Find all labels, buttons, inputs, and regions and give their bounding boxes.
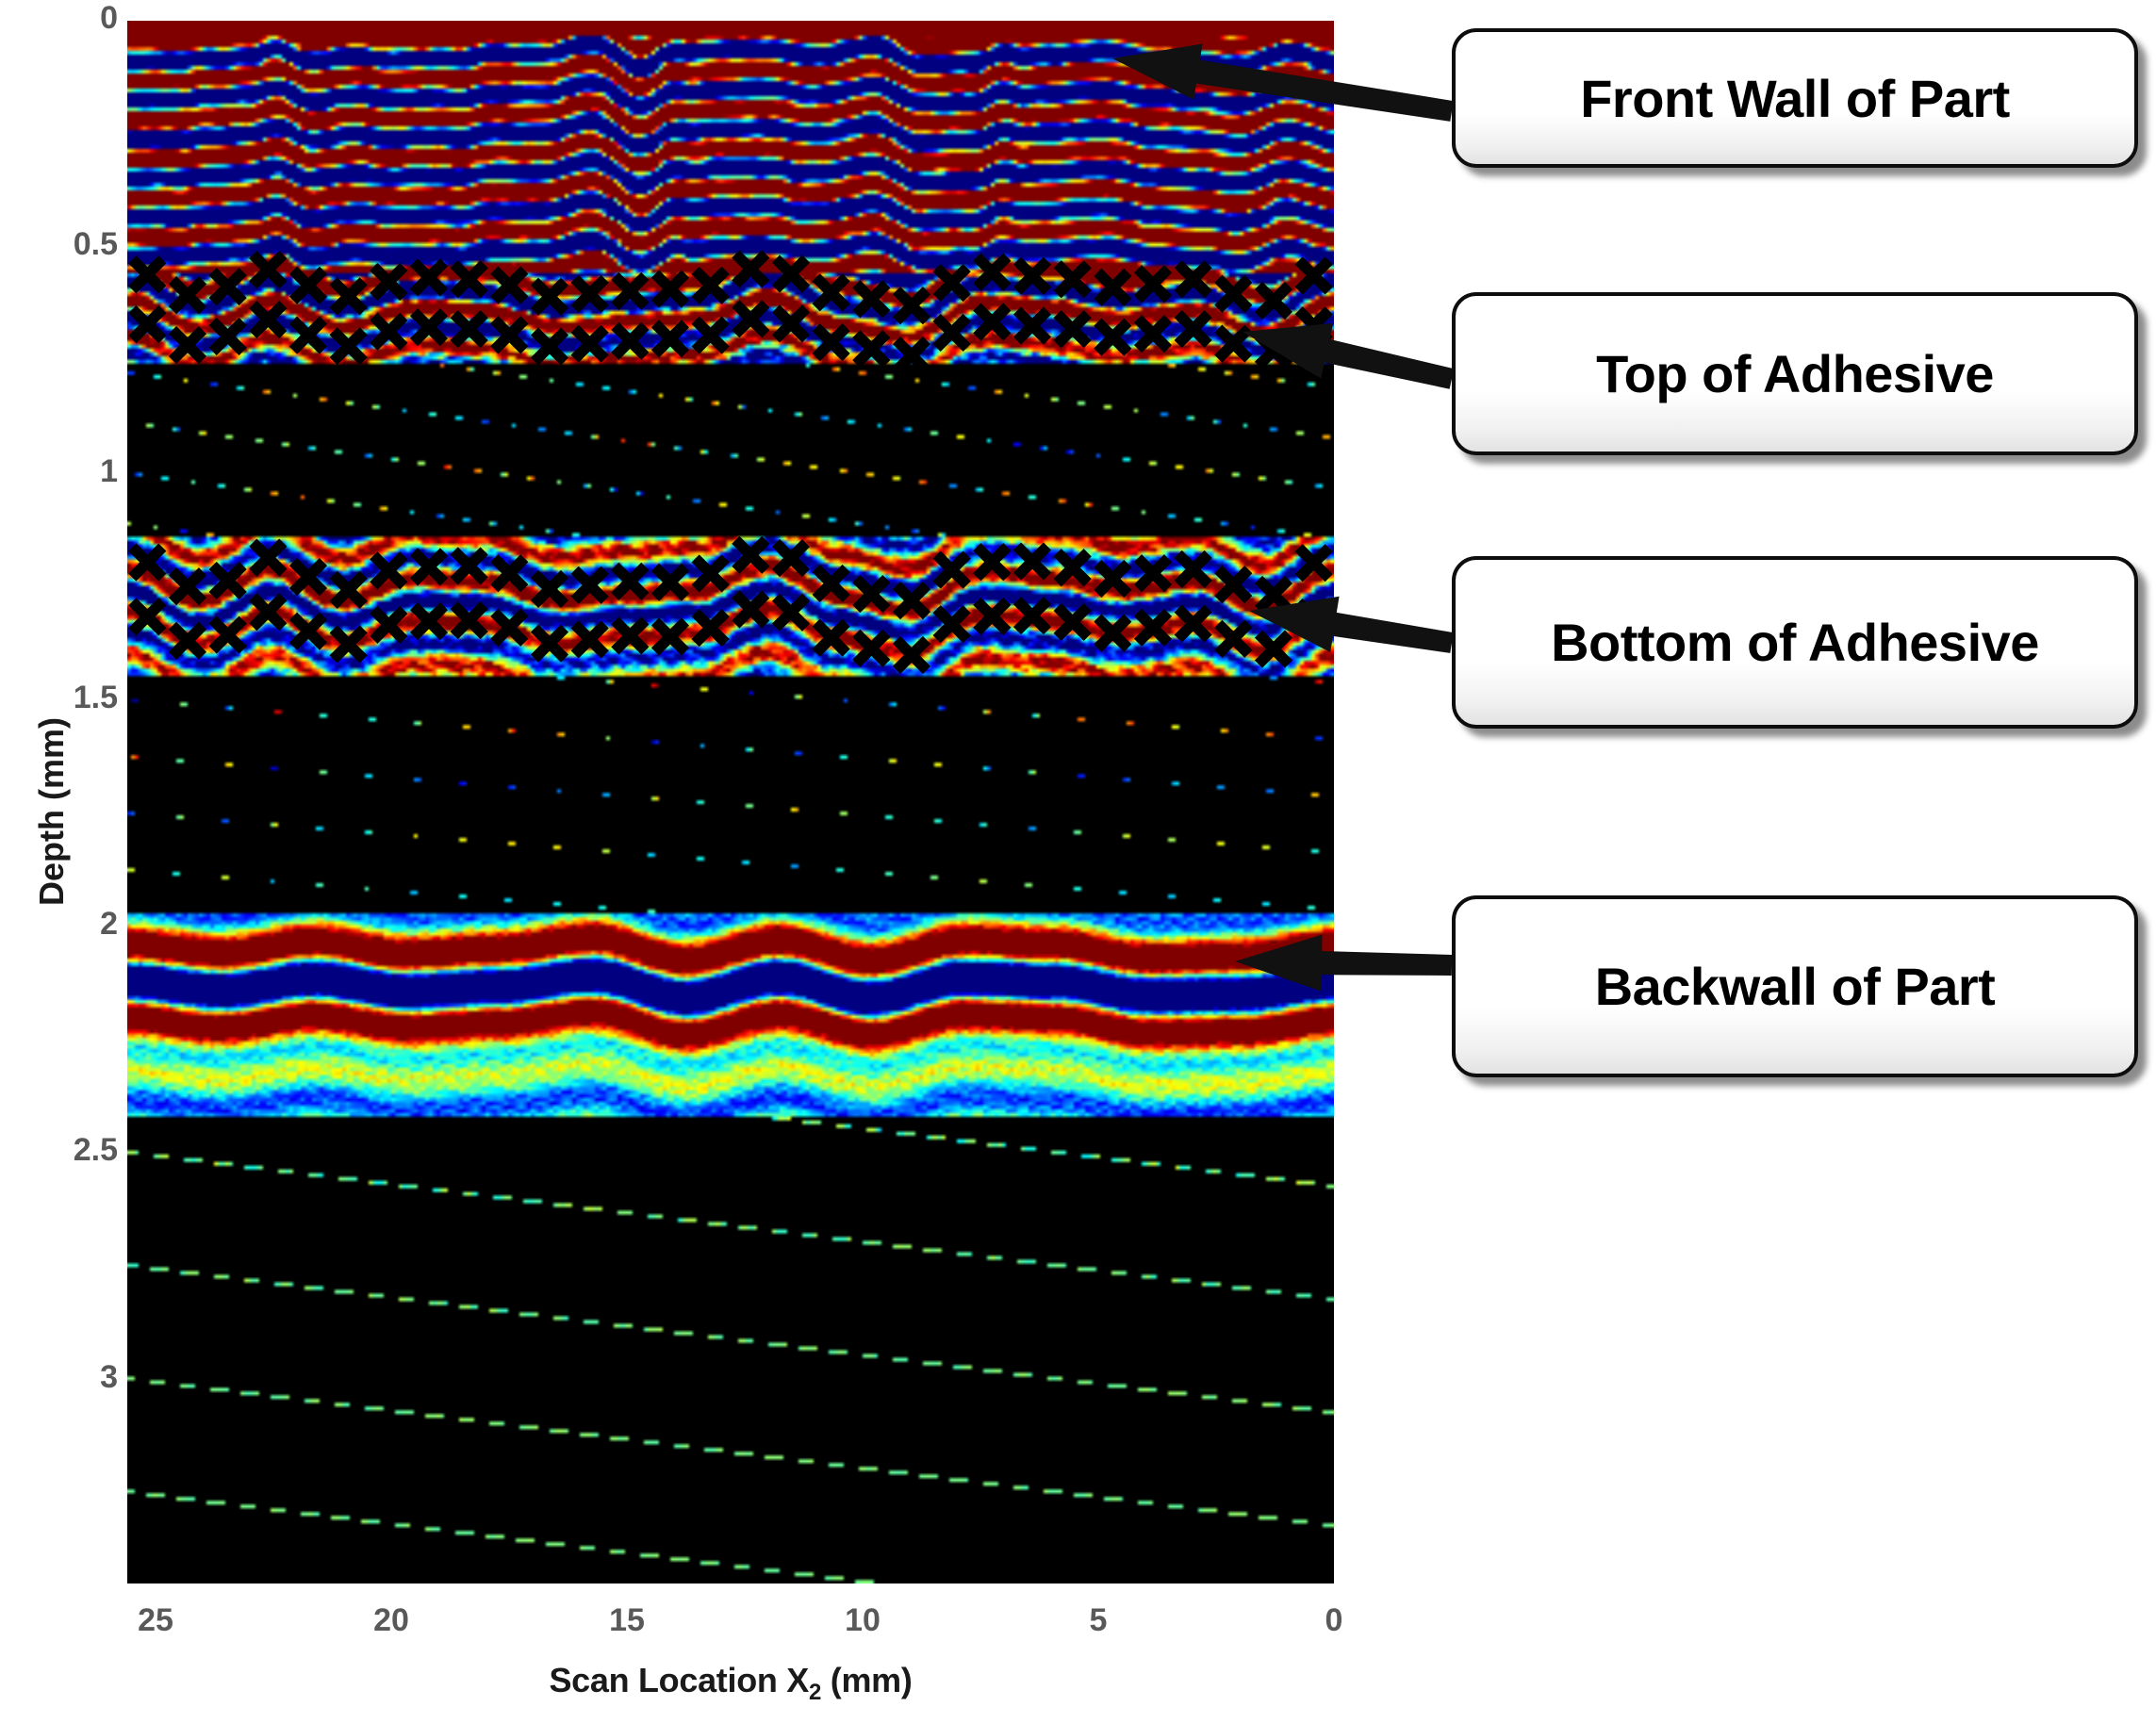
callout-top-of-adhesive[interactable]: Top of Adhesive [1452,292,2138,455]
x-axis-title-unit: (mm) [821,1661,913,1699]
callout-label-backwall: Backwall of Part [1595,956,1996,1017]
x-axis-title: Scan Location X2 (mm) [127,1661,1334,1706]
x-tick-label: 15 [570,1602,683,1639]
callout-backwall[interactable]: Backwall of Part [1452,895,2138,1077]
x-tick-label: 10 [806,1602,919,1639]
x-tick-label: 5 [1042,1602,1155,1639]
bscan-figure: 00.511.522.53 2520151050 Depth (mm) Scan… [0,0,2156,1723]
y-tick-label: 0.5 [42,226,118,263]
callout-label-bottom-of-adhesive: Bottom of Adhesive [1551,612,2039,673]
callout-label-top-of-adhesive: Top of Adhesive [1596,343,1994,404]
callout-bottom-of-adhesive[interactable]: Bottom of Adhesive [1452,556,2138,729]
y-tick-label: 0 [42,0,118,37]
x-tick-label: 20 [335,1602,448,1639]
bscan-heatmap-canvas [127,21,1334,1584]
y-axis-title: Depth (mm) [32,689,72,934]
callout-label-front-wall: Front Wall of Part [1580,68,2010,129]
y-tick-label: 1 [42,453,118,490]
x-axis-ticks: 2520151050 [0,1602,2156,1659]
x-tick-label: 0 [1277,1602,1391,1639]
bscan-plot-area[interactable] [127,21,1334,1584]
x-axis-title-subscript: 2 [809,1680,821,1705]
x-axis-title-main: Scan Location X [549,1661,809,1699]
callout-front-wall[interactable]: Front Wall of Part [1452,28,2138,168]
x-tick-label: 25 [99,1602,212,1639]
y-tick-label: 2.5 [42,1132,118,1169]
y-tick-label: 3 [42,1359,118,1396]
